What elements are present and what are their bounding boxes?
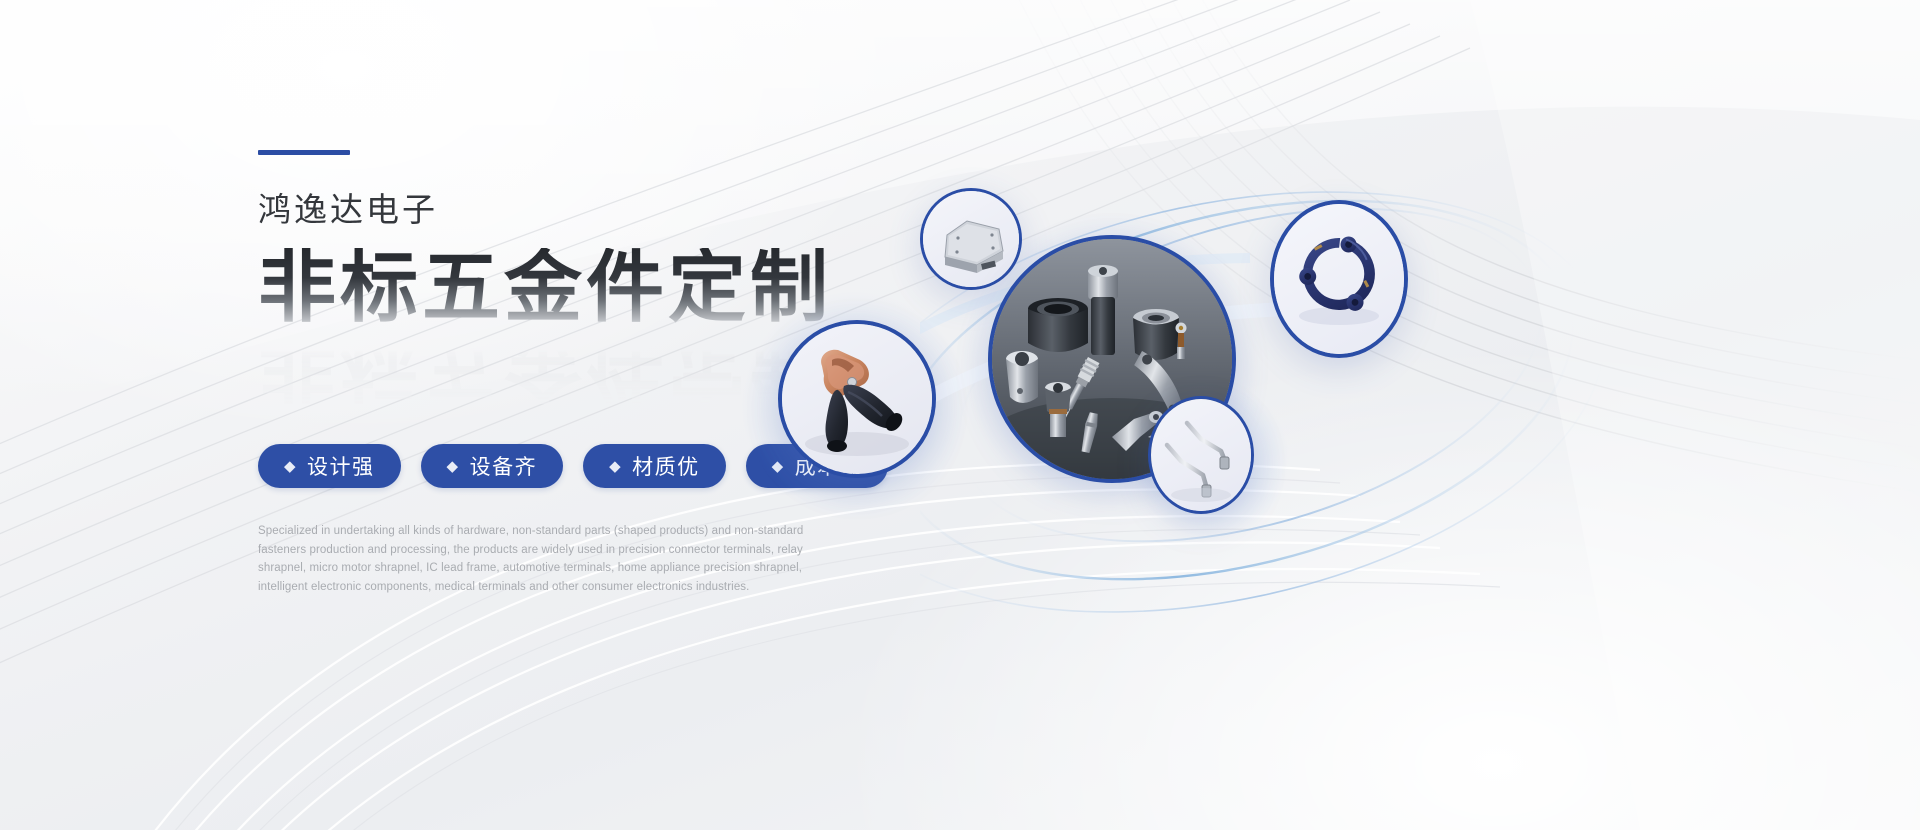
diamond-icon: ◆: [447, 459, 460, 474]
feature-pill-equipment[interactable]: ◆ 设备齐: [421, 444, 564, 488]
banner-description: Specialized in undertaking all kinds of …: [258, 522, 830, 597]
feature-pill-label: 设计强: [307, 451, 375, 481]
feature-pill-label: 设备齐: [470, 451, 538, 481]
bubble-alligator-clamp[interactable]: [778, 320, 936, 478]
feature-pill-design[interactable]: ◆ 设计强: [258, 444, 401, 488]
page-title: 非标五金件定制: [258, 248, 898, 326]
brand-name: 鸿逸达电子: [258, 193, 898, 226]
feature-pill-material[interactable]: ◆ 材质优: [583, 444, 726, 488]
diamond-icon: ◆: [284, 459, 297, 474]
retaining-ring-illustration: [1274, 204, 1404, 354]
headline-reflection: 非标五金件定制: [258, 326, 832, 404]
terminal-pins-illustration: [1151, 399, 1251, 511]
feature-pill-label: 材质优: [632, 451, 700, 481]
bubble-retaining-ring[interactable]: [1270, 200, 1408, 358]
bent-terminal-pins-photo: [1151, 399, 1251, 511]
hero-banner: 鸿逸达电子 非标五金件定制 非标五金件定制 ◆ 设计强 ◆ 设备齐 ◆ 材质优 …: [0, 0, 1920, 830]
bubble-terminal-pins[interactable]: [1148, 396, 1254, 514]
diamond-icon: ◆: [609, 459, 622, 474]
product-imagery-cluster: [920, 140, 1920, 700]
alligator-clamp-illustration: [782, 324, 932, 474]
accent-bar: [258, 150, 350, 155]
retaining-ring-photo: [1274, 204, 1404, 354]
alligator-clamp-photo: [782, 324, 932, 474]
